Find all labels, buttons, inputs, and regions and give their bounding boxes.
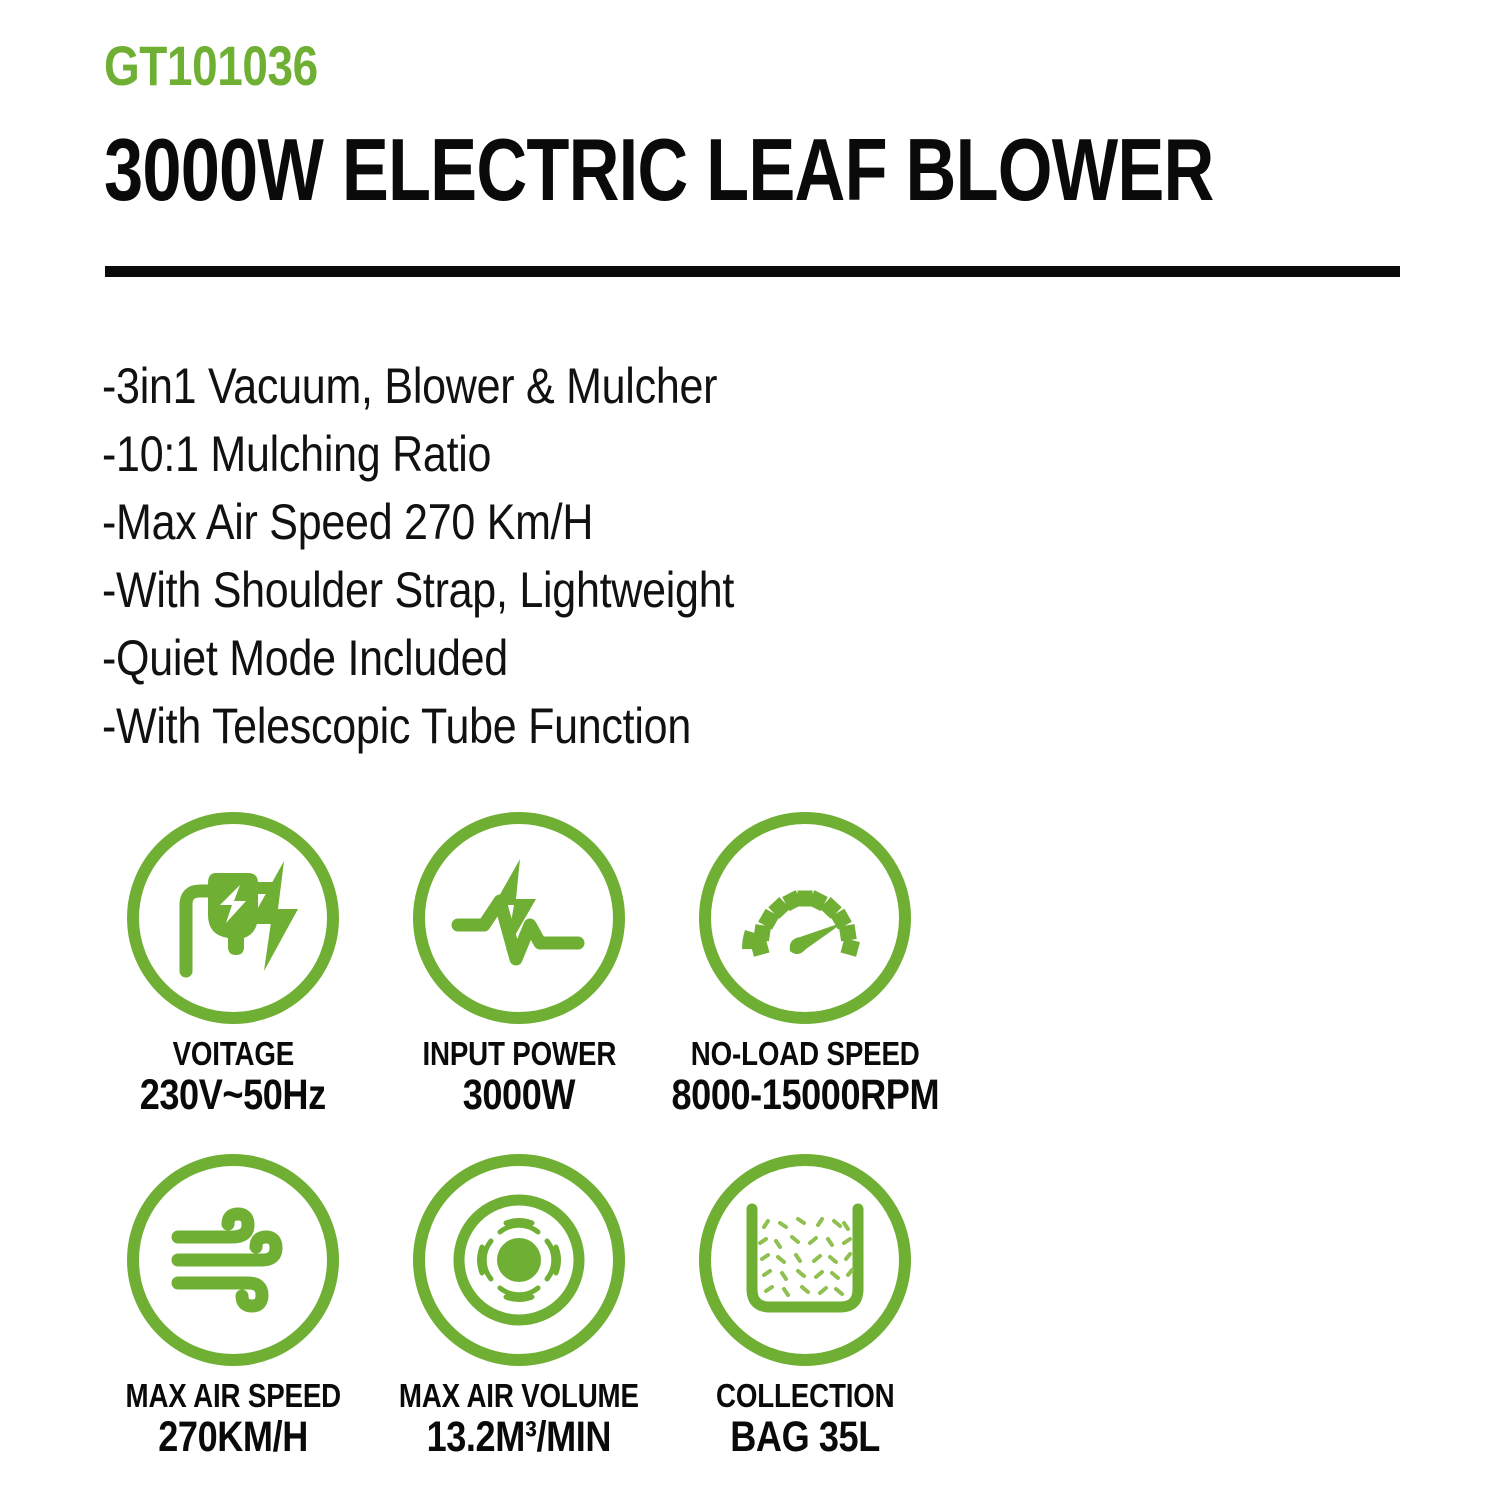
list-item: -3in1 Vacuum, Blower & Mulcher [102, 352, 876, 420]
spec-value: 230V~50Hz [140, 1072, 326, 1118]
spec-item-input-power: INPUT POWER 3000W [376, 812, 662, 1118]
feature-list: -3in1 Vacuum, Blower & Mulcher -10:1 Mul… [102, 352, 1002, 760]
list-item: -10:1 Mulching Ratio [102, 420, 876, 488]
spec-icon-frame [699, 1154, 911, 1366]
title-divider [105, 266, 1400, 277]
fan-airflow-icon [444, 1185, 594, 1335]
spec-caption: MAX AIR VOLUME [399, 1378, 639, 1414]
spec-item-max-air-speed: MAX AIR SPEED 270KM/H [90, 1154, 376, 1460]
list-item: -With Shoulder Strap, Lightweight [102, 556, 876, 624]
spec-row: VOITAGE 230V~50Hz INPUT POWER 3000W [90, 812, 990, 1118]
spec-icon-frame [413, 812, 625, 1024]
spec-value: 3000W [463, 1072, 575, 1118]
spec-caption: INPUT POWER [422, 1036, 616, 1072]
spec-value: BAG 35L [730, 1414, 880, 1460]
spec-item-max-air-volume: MAX AIR VOLUME 13.2M³/MIN [376, 1154, 662, 1460]
spec-icon-frame [699, 812, 911, 1024]
power-waveform-icon [444, 843, 594, 993]
spec-caption: VOITAGE [172, 1036, 294, 1072]
product-infographic: GT101036 3000W ELECTRIC LEAF BLOWER -3in… [0, 0, 1500, 1500]
spec-item-voltage: VOITAGE 230V~50Hz [90, 812, 376, 1118]
spec-icon-frame [413, 1154, 625, 1366]
spec-caption: NO-LOAD SPEED [691, 1036, 920, 1072]
spec-row: MAX AIR SPEED 270KM/H [90, 1154, 990, 1460]
product-title: 3000W ELECTRIC LEAF BLOWER [104, 126, 1214, 214]
spec-caption: COLLECTION [716, 1378, 894, 1414]
plug-bolt-icon [158, 843, 308, 993]
spec-icon-frame [127, 1154, 339, 1366]
list-item: -Max Air Speed 270 Km/H [102, 488, 876, 556]
spec-item-no-load-speed: NO-LOAD SPEED 8000-15000RPM [662, 812, 948, 1118]
product-sku: GT101036 [104, 38, 318, 94]
list-item: -With Telescopic Tube Function [102, 692, 876, 760]
spec-value: 13.2M³/MIN [427, 1414, 611, 1460]
list-item: -Quiet Mode Included [102, 624, 876, 692]
wind-icon [158, 1185, 308, 1335]
row-spacer [90, 1118, 990, 1154]
spec-value: 8000-15000RPM [671, 1072, 939, 1118]
spec-value: 270KM/H [158, 1414, 308, 1460]
spec-icon-frame [127, 812, 339, 1024]
spec-item-collection-bag: COLLECTION BAG 35L [662, 1154, 948, 1460]
spec-caption: MAX AIR SPEED [125, 1378, 341, 1414]
collection-bin-icon [730, 1185, 880, 1335]
spec-grid: VOITAGE 230V~50Hz INPUT POWER 3000W [90, 812, 990, 1460]
speedometer-icon [730, 843, 880, 993]
